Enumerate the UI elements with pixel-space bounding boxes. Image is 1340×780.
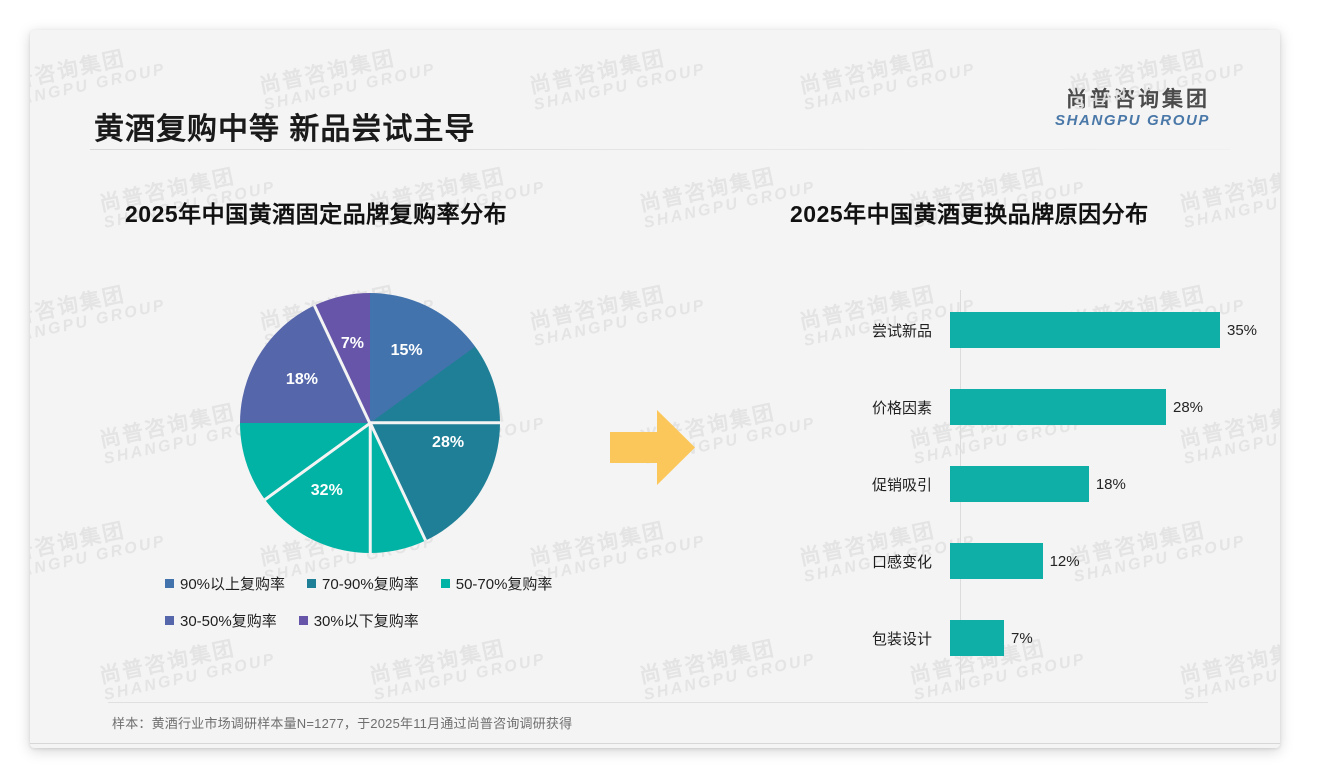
legend-label: 70-90%复购率	[322, 573, 419, 594]
pie-legend: 90%以上复购率70-90%复购率50-70%复购率 30-50%复购率30%以…	[165, 573, 625, 647]
bar-row: 尝试新品35%	[790, 312, 1260, 348]
bar-row: 价格因素28%	[790, 389, 1260, 425]
bar-category-label: 尝试新品	[790, 320, 950, 341]
bar-value-label: 7%	[1011, 630, 1033, 647]
legend-item: 90%以上复购率	[165, 573, 285, 594]
bar-fill	[950, 312, 1220, 348]
slide-header	[30, 30, 1280, 120]
legend-row: 30-50%复购率30%以下复购率	[165, 610, 625, 631]
bar-fill	[950, 620, 1004, 656]
bar-track: 18%	[950, 466, 1260, 502]
pie-chart-title: 2025年中国黄酒固定品牌复购率分布	[125, 195, 665, 229]
bar-fill	[950, 466, 1089, 502]
bar-value-label: 12%	[1050, 553, 1080, 570]
legend-label: 90%以上复购率	[180, 573, 285, 594]
bar-value-label: 18%	[1096, 476, 1126, 493]
bar-chart: 尝试新品35%价格因素28%促销吸引18%口感变化12%包装设计7%	[790, 290, 1260, 690]
legend-swatch-icon	[441, 579, 450, 588]
pie-slice-label: 18%	[286, 371, 318, 389]
sample-note: 样本：黄酒行业市场调研样本量N=1277，于2025年11月通过尚普咨询调研获得	[112, 713, 572, 732]
bar-track: 35%	[950, 312, 1260, 348]
legend-row: 90%以上复购率70-90%复购率50-70%复购率	[165, 573, 625, 594]
pie-slice-label: 15%	[391, 342, 423, 360]
bar-fill	[950, 543, 1043, 579]
legend-swatch-icon	[307, 579, 316, 588]
legend-item: 50-70%复购率	[441, 573, 553, 594]
pie-slice-label: 32%	[311, 482, 343, 500]
legend-label: 30-50%复购率	[180, 610, 277, 631]
pie-chart: 15%28%32%18%7%	[240, 293, 500, 553]
bar-value-label: 35%	[1227, 322, 1257, 339]
pie-chart-panel: 2025年中国黄酒固定品牌复购率分布 15%28%32%18%7% 90%以上复…	[125, 195, 665, 675]
arrow-right-icon	[605, 405, 700, 495]
bar-row: 促销吸引18%	[790, 466, 1260, 502]
pie-slice-label: 28%	[432, 434, 464, 452]
bar-category-label: 促销吸引	[790, 474, 950, 495]
bar-track: 28%	[950, 389, 1260, 425]
bar-value-label: 28%	[1173, 399, 1203, 416]
pie-slice-label: 7%	[341, 335, 364, 353]
legend-item: 70-90%复购率	[307, 573, 419, 594]
bar-chart-panel: 2025年中国黄酒更换品牌原因分布 尝试新品35%价格因素28%促销吸引18%口…	[790, 195, 1260, 675]
bar-category-label: 价格因素	[790, 397, 950, 418]
pie-slice-separator	[370, 422, 500, 425]
bar-fill	[950, 389, 1166, 425]
bar-category-label: 口感变化	[790, 551, 950, 572]
bar-chart-title: 2025年中国黄酒更换品牌原因分布	[790, 195, 1260, 229]
legend-swatch-icon	[299, 616, 308, 625]
legend-item: 30%以下复购率	[299, 610, 419, 631]
sample-note-divider	[108, 702, 1208, 703]
header-divider	[90, 149, 1230, 150]
bar-track: 7%	[950, 620, 1260, 656]
bar-track: 12%	[950, 543, 1260, 579]
bar-category-label: 包装设计	[790, 628, 950, 649]
legend-swatch-icon	[165, 579, 174, 588]
footer-divider	[30, 743, 1280, 744]
bar-row: 口感变化12%	[790, 543, 1260, 579]
legend-swatch-icon	[165, 616, 174, 625]
pie-slice-separator	[369, 423, 372, 553]
legend-label: 30%以下复购率	[314, 610, 419, 631]
bar-row: 包装设计7%	[790, 620, 1260, 656]
slide-card: 尚普咨询集团SHANGPU GROUP尚普咨询集团SHANGPU GROUP尚普…	[30, 30, 1280, 748]
legend-label: 50-70%复购率	[456, 573, 553, 594]
legend-item: 30-50%复购率	[165, 610, 277, 631]
